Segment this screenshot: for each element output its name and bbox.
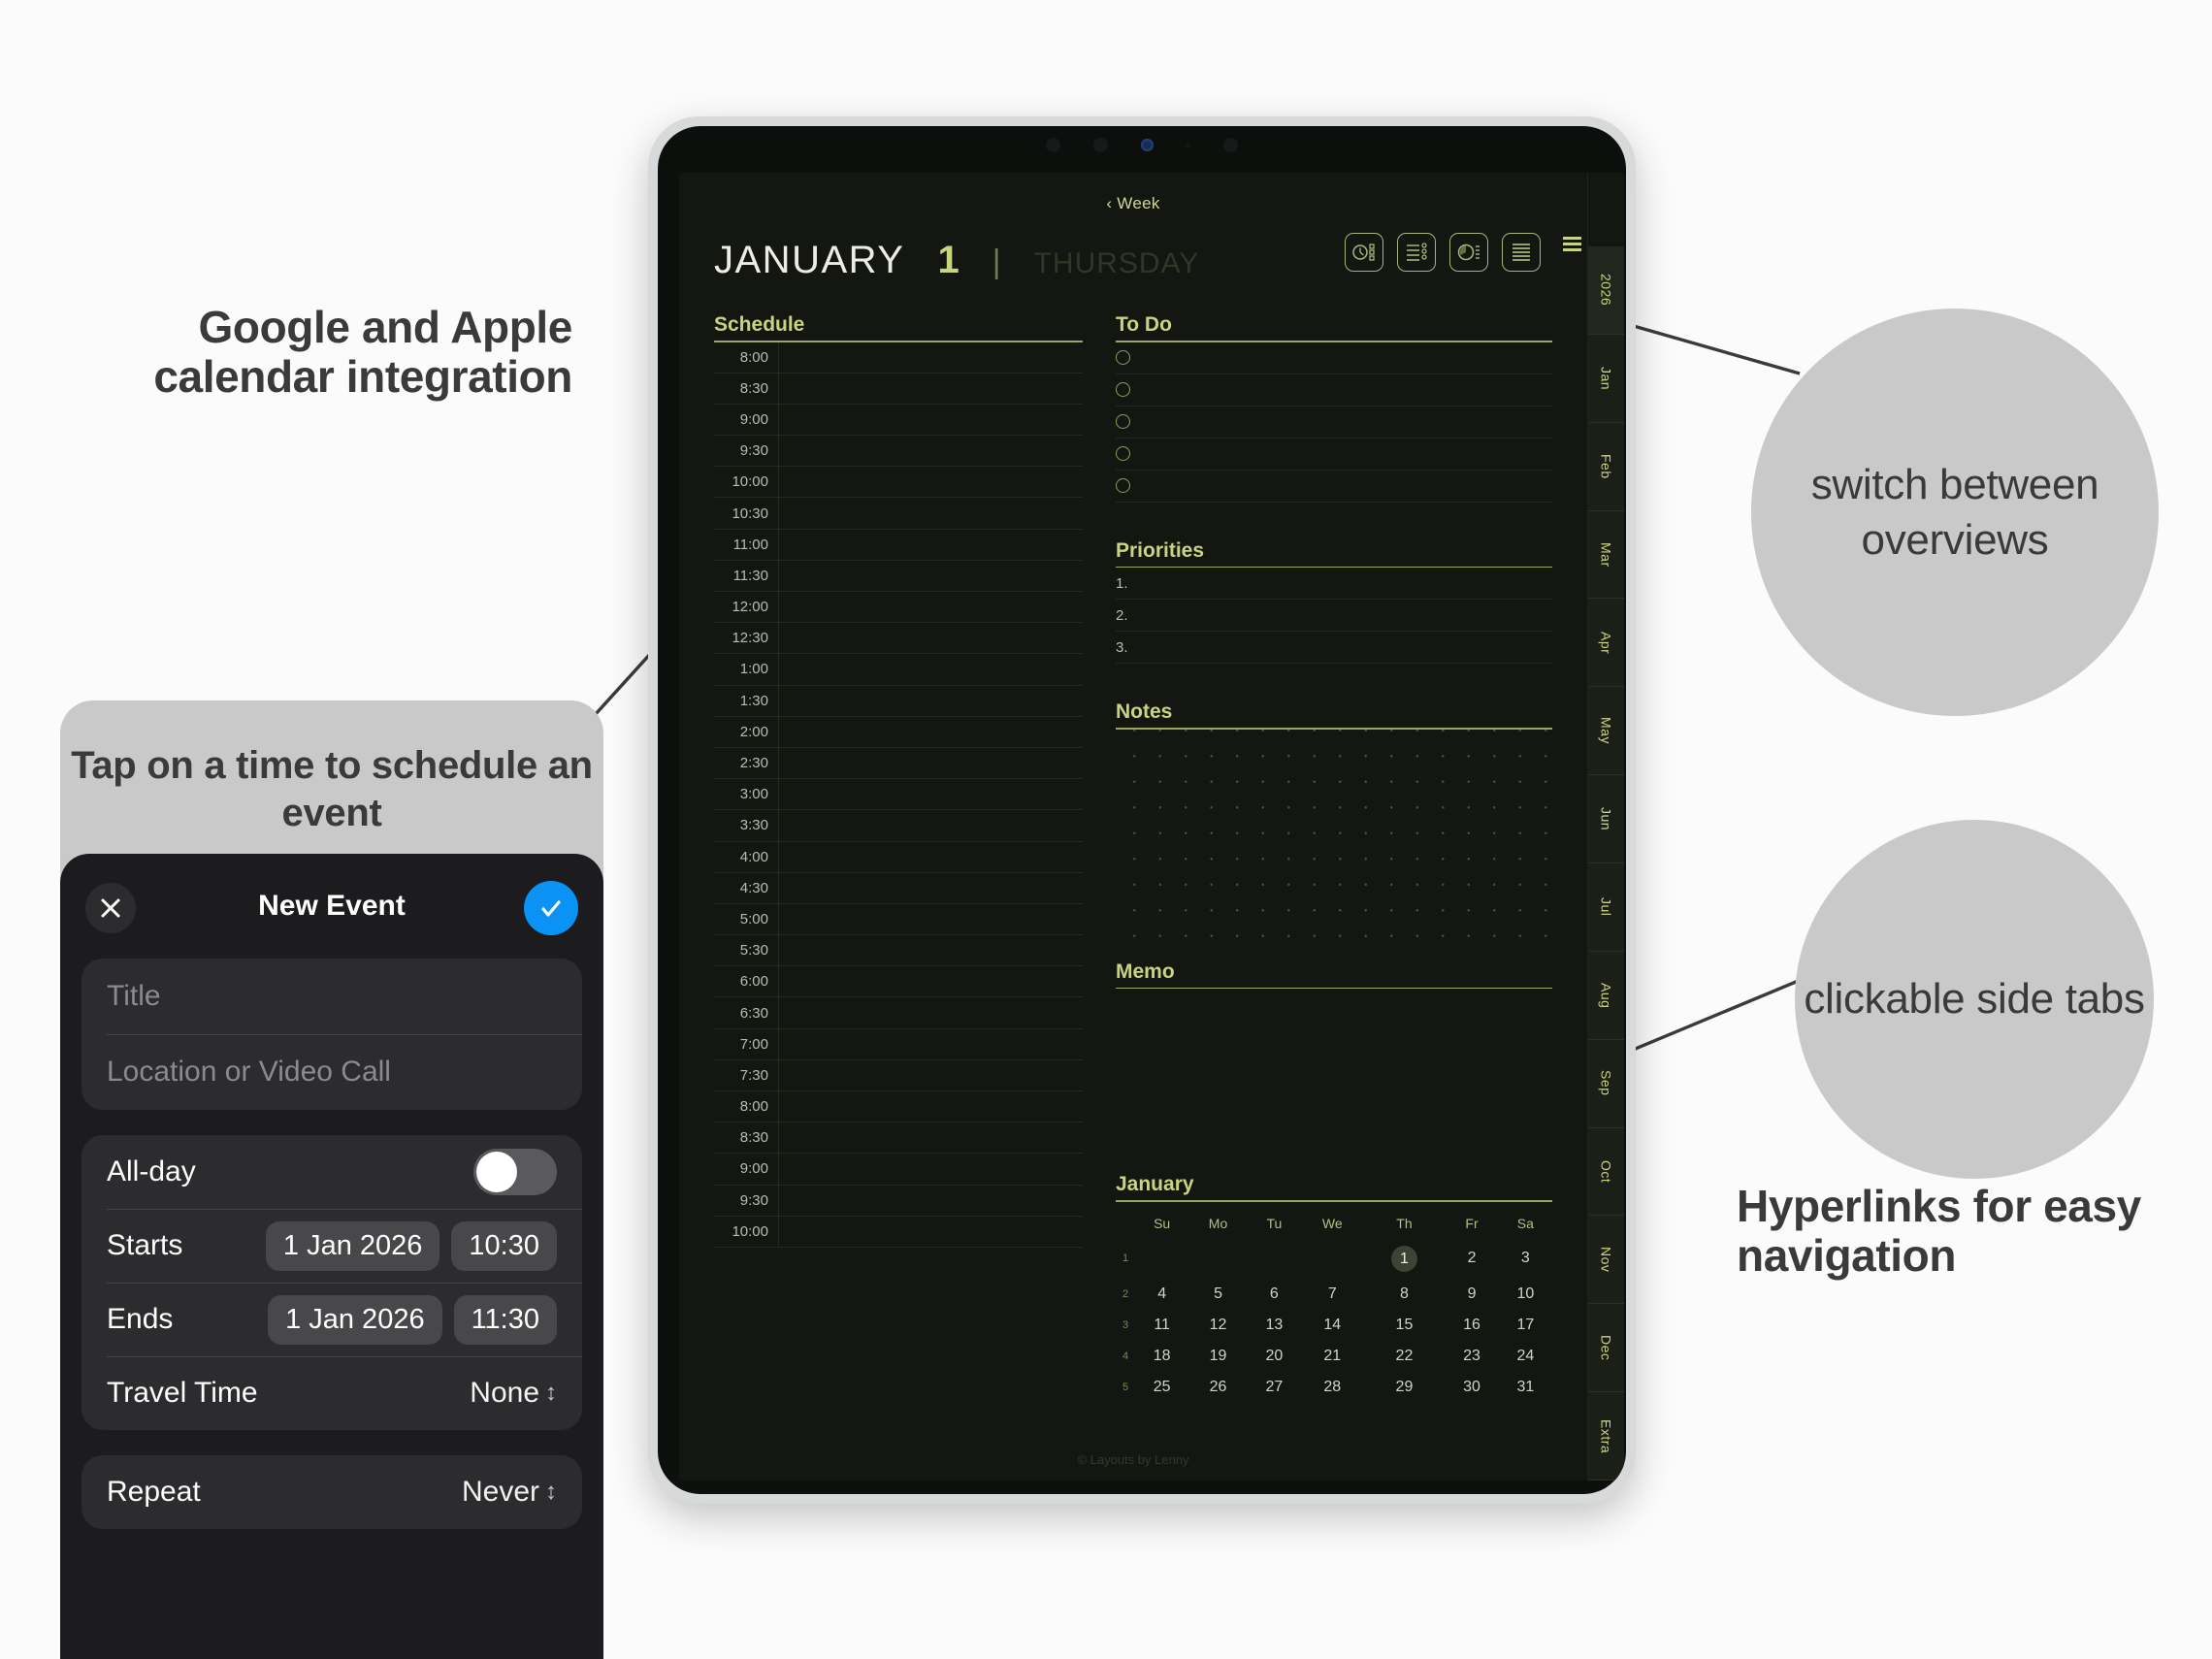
schedule-row[interactable]: 7:00 bbox=[714, 1029, 1083, 1060]
location-placeholder: Location or Video Call bbox=[107, 1056, 391, 1089]
mini-calendar-day[interactable]: 15 bbox=[1364, 1310, 1446, 1341]
schedule-row[interactable]: 8:30 bbox=[714, 1122, 1083, 1154]
memo-title: Memo bbox=[1116, 960, 1552, 988]
side-tab-label: Jul bbox=[1599, 897, 1614, 916]
schedule-entry-slot[interactable] bbox=[778, 966, 1083, 996]
schedule-time-label: 3:30 bbox=[714, 817, 778, 833]
todo-checkbox-icon[interactable] bbox=[1116, 350, 1130, 365]
mini-calendar-today: 1 bbox=[1391, 1246, 1417, 1272]
repeat-value: Never bbox=[462, 1476, 539, 1509]
mini-calendar-divider bbox=[1116, 1200, 1552, 1202]
todo-checkbox-icon[interactable] bbox=[1116, 446, 1130, 461]
event-time-card: All-day Starts 1 Jan 2026 10:30 Ends 1 J… bbox=[81, 1135, 582, 1430]
priority-number: 3. bbox=[1116, 639, 1137, 656]
new-event-header: New Event bbox=[60, 854, 603, 959]
tablet-device: ‹ Week JANUARY 1 | THURSDAY bbox=[648, 116, 1636, 1504]
priorities-title: Priorities bbox=[1116, 539, 1552, 567]
schedule-row[interactable]: 8:30 bbox=[714, 374, 1083, 405]
day-number: 1 bbox=[937, 239, 959, 282]
all-day-toggle[interactable] bbox=[473, 1149, 557, 1195]
schedule-title: Schedule bbox=[714, 313, 1083, 341]
schedule-entry-slot[interactable] bbox=[778, 467, 1083, 497]
title-input[interactable]: Title bbox=[81, 959, 582, 1034]
side-tab-label: Mar bbox=[1599, 542, 1614, 568]
schedule-entry-slot[interactable] bbox=[778, 1186, 1083, 1216]
schedule-time-label: 3:00 bbox=[714, 786, 778, 802]
schedule-time-label: 9:30 bbox=[714, 442, 778, 459]
week-number[interactable]: 4 bbox=[1116, 1341, 1135, 1372]
mini-calendar-title: January bbox=[1116, 1173, 1552, 1200]
list-view-icon[interactable] bbox=[1397, 233, 1436, 272]
event-text-fields-card: Title Location or Video Call bbox=[81, 959, 582, 1110]
face-id-sensor-icon bbox=[1141, 139, 1154, 151]
priority-row[interactable]: 3. bbox=[1116, 632, 1552, 664]
mini-calendar-week-row: 1123 bbox=[1116, 1239, 1552, 1279]
schedule-row[interactable]: 3:00 bbox=[714, 779, 1083, 810]
mini-calendar-day[interactable]: 17 bbox=[1499, 1310, 1552, 1341]
schedule-entry-slot[interactable] bbox=[778, 623, 1083, 653]
camera-sensor-icon bbox=[1046, 138, 1060, 152]
side-tab-dec[interactable]: Dec bbox=[1588, 1304, 1624, 1392]
mini-calendar-day[interactable]: 23 bbox=[1445, 1341, 1498, 1372]
schedule-time-label: 10:00 bbox=[714, 1223, 778, 1240]
todo-checkbox-icon[interactable] bbox=[1116, 478, 1130, 493]
schedule-row[interactable]: 1:30 bbox=[714, 686, 1083, 717]
tablet-sensor-array bbox=[1030, 132, 1253, 157]
side-tab-label: May bbox=[1599, 717, 1614, 744]
mini-calendar-day[interactable]: 1 bbox=[1364, 1239, 1446, 1279]
side-tabs: 2026JanFebMarAprMayJunJulAugSepOctNovDec… bbox=[1587, 173, 1624, 1480]
starts-row[interactable]: Starts 1 Jan 2026 10:30 bbox=[81, 1209, 582, 1283]
schedule-row[interactable]: 9:30 bbox=[714, 436, 1083, 467]
mini-calendar-weekday-header: Tu bbox=[1248, 1206, 1301, 1239]
lined-list-view-icon[interactable] bbox=[1502, 233, 1541, 272]
schedule-row[interactable]: 2:30 bbox=[714, 748, 1083, 779]
schedule-entry-slot[interactable] bbox=[778, 1029, 1083, 1059]
mini-calendar-day[interactable]: 7 bbox=[1301, 1279, 1363, 1310]
priority-number: 1. bbox=[1116, 575, 1137, 592]
schedule-row[interactable]: 10:00 bbox=[714, 467, 1083, 498]
week-number[interactable]: 3 bbox=[1116, 1310, 1135, 1341]
footer-credit: © Layouts by Lenny bbox=[679, 1452, 1587, 1467]
notes-title: Notes bbox=[1116, 700, 1552, 728]
schedule-time-label: 6:00 bbox=[714, 973, 778, 990]
mini-calendar-day[interactable]: 3 bbox=[1499, 1239, 1552, 1279]
mini-calendar-day[interactable]: 2 bbox=[1445, 1239, 1498, 1279]
checkmark-icon[interactable] bbox=[524, 881, 578, 935]
close-x-icon[interactable] bbox=[85, 883, 136, 933]
mini-calendar-weekday-header: Fr bbox=[1445, 1206, 1498, 1239]
schedule-time-label: 2:00 bbox=[714, 724, 778, 740]
repeat-label: Repeat bbox=[107, 1476, 462, 1509]
month-name[interactable]: JANUARY bbox=[714, 239, 904, 282]
side-tab-feb[interactable]: Feb bbox=[1588, 423, 1624, 511]
mini-calendar-day[interactable]: 13 bbox=[1248, 1310, 1301, 1341]
schedule-time-label: 4:30 bbox=[714, 880, 778, 896]
mini-calendar-day[interactable]: 8 bbox=[1364, 1279, 1446, 1310]
mini-calendar-week-row: 525262728293031 bbox=[1116, 1372, 1552, 1403]
schedule-row[interactable]: 12:30 bbox=[714, 623, 1083, 654]
side-tab-apr[interactable]: Apr bbox=[1588, 599, 1624, 687]
mini-calendar-day[interactable]: 21 bbox=[1301, 1341, 1363, 1372]
starts-time-pill[interactable]: 10:30 bbox=[451, 1221, 557, 1271]
ambient-light-sensor-icon bbox=[1186, 143, 1190, 147]
mini-calendar-corner bbox=[1116, 1206, 1135, 1239]
schedule-row[interactable]: 9:00 bbox=[714, 1154, 1083, 1185]
mini-calendar-day[interactable]: 27 bbox=[1248, 1372, 1301, 1403]
todo-checkbox-icon[interactable] bbox=[1116, 414, 1130, 429]
schedule-entry-slot[interactable] bbox=[778, 997, 1083, 1027]
schedule-entry-slot[interactable] bbox=[778, 654, 1083, 684]
title-placeholder: Title bbox=[107, 980, 161, 1013]
memo-area[interactable] bbox=[1116, 989, 1552, 1173]
todo-row[interactable] bbox=[1116, 471, 1552, 503]
schedule-entry-slot[interactable] bbox=[778, 1060, 1083, 1090]
side-tab-label: Sep bbox=[1599, 1070, 1614, 1095]
schedule-entry-slot[interactable] bbox=[778, 561, 1083, 591]
side-tab-jan[interactable]: Jan bbox=[1588, 335, 1624, 423]
schedule-time-label: 4:00 bbox=[714, 849, 778, 865]
mini-calendar-weekday-header: Su bbox=[1135, 1206, 1188, 1239]
schedule-time-label: 8:00 bbox=[714, 349, 778, 366]
chevron-updown-icon[interactable]: ↕ bbox=[545, 1380, 557, 1407]
schedule-time-label: 11:00 bbox=[714, 537, 778, 553]
schedule-row[interactable]: 10:00 bbox=[714, 1217, 1083, 1248]
mini-calendar-weekday-header: Sa bbox=[1499, 1206, 1552, 1239]
schedule-row[interactable]: 11:30 bbox=[714, 561, 1083, 592]
travel-time-row[interactable]: Travel Time None ↕ bbox=[81, 1356, 582, 1430]
tablet-bezel: ‹ Week JANUARY 1 | THURSDAY bbox=[658, 126, 1626, 1494]
schedule-time-label: 11:30 bbox=[714, 568, 778, 584]
mini-calendar-week-row: 245678910 bbox=[1116, 1279, 1552, 1310]
mini-calendar-weekday-header: We bbox=[1301, 1206, 1363, 1239]
schedule-column: Schedule 8:008:309:009:3010:0010:3011:00… bbox=[714, 313, 1083, 1403]
schedule-time-label: 5:00 bbox=[714, 911, 778, 927]
schedule-entry-slot[interactable] bbox=[778, 436, 1083, 466]
mini-calendar-day[interactable]: 31 bbox=[1499, 1372, 1552, 1403]
schedule-time-label: 8:00 bbox=[714, 1098, 778, 1115]
sidebar-column: To Do Priorities 1.2.3. Notes Memo bbox=[1116, 313, 1552, 1403]
mini-calendar-day[interactable]: 22 bbox=[1364, 1341, 1446, 1372]
mini-calendar-day[interactable]: 28 bbox=[1301, 1372, 1363, 1403]
planner-columns: Schedule 8:008:309:009:3010:0010:3011:00… bbox=[704, 313, 1562, 1403]
schedule-entry-slot[interactable] bbox=[778, 748, 1083, 778]
schedule-row[interactable]: 12:00 bbox=[714, 592, 1083, 623]
side-tab-label: Apr bbox=[1599, 632, 1614, 654]
side-tab-label: Nov bbox=[1599, 1247, 1614, 1272]
schedule-row[interactable]: 5:30 bbox=[714, 935, 1083, 966]
schedule-entry-slot[interactable] bbox=[778, 842, 1083, 872]
view-switcher-toolbar bbox=[1345, 233, 1541, 272]
schedule-time-label: 8:30 bbox=[714, 1129, 778, 1146]
mini-calendar-day[interactable]: 12 bbox=[1188, 1310, 1247, 1341]
mini-calendar-day[interactable]: 26 bbox=[1188, 1372, 1247, 1403]
side-tab-label: Oct bbox=[1599, 1160, 1614, 1183]
side-tab-mar[interactable]: Mar bbox=[1588, 511, 1624, 600]
schedule-row[interactable]: 11:00 bbox=[714, 530, 1083, 561]
schedule-time-label: 2:30 bbox=[714, 755, 778, 771]
schedule-row[interactable]: 2:00 bbox=[714, 717, 1083, 748]
mini-calendar-day[interactable]: 14 bbox=[1301, 1310, 1363, 1341]
all-day-label: All-day bbox=[107, 1155, 473, 1188]
side-tab-label: Jan bbox=[1599, 367, 1614, 390]
schedule-row[interactable]: 4:30 bbox=[714, 873, 1083, 904]
side-tab-label: 2026 bbox=[1599, 274, 1614, 306]
schedule-entry-slot[interactable] bbox=[778, 686, 1083, 716]
schedule-entry-slot[interactable] bbox=[778, 717, 1083, 747]
side-tab-jul[interactable]: Jul bbox=[1588, 863, 1624, 952]
mini-calendar-weekday-header: Mo bbox=[1188, 1206, 1247, 1239]
todo-row[interactable] bbox=[1116, 439, 1552, 471]
schedule-time-label: 5:30 bbox=[714, 942, 778, 959]
planner-screen: ‹ Week JANUARY 1 | THURSDAY bbox=[679, 173, 1624, 1480]
schedule-time-label: 8:30 bbox=[714, 380, 778, 397]
mini-calendar-header-row: SuMoTuWeThFrSa bbox=[1116, 1206, 1552, 1239]
side-tab-may[interactable]: May bbox=[1588, 687, 1624, 775]
priority-number: 2. bbox=[1116, 607, 1137, 624]
mini-calendar-day[interactable]: 4 bbox=[1135, 1279, 1188, 1310]
all-day-row[interactable]: All-day bbox=[81, 1135, 582, 1209]
priority-row[interactable]: 1. bbox=[1116, 568, 1552, 600]
weekday-name: THURSDAY bbox=[1034, 247, 1200, 280]
schedule-time-label: 12:00 bbox=[714, 599, 778, 615]
mini-calendar-empty-day bbox=[1135, 1239, 1188, 1279]
mini-calendar-day[interactable]: 19 bbox=[1188, 1341, 1247, 1372]
week-number[interactable]: 2 bbox=[1116, 1279, 1135, 1310]
mini-calendar-day[interactable]: 20 bbox=[1248, 1341, 1301, 1372]
side-tab-extra[interactable]: Extra bbox=[1588, 1392, 1624, 1480]
schedule-entry-slot[interactable] bbox=[778, 530, 1083, 560]
side-tab-label: Feb bbox=[1599, 454, 1614, 479]
schedule-time-label: 9:00 bbox=[714, 411, 778, 428]
annotation-hyperlinks: Hyperlinks for easy navigation bbox=[1737, 1182, 2144, 1280]
mini-calendar-empty-day bbox=[1188, 1239, 1247, 1279]
schedule-row[interactable]: 10:30 bbox=[714, 498, 1083, 529]
schedule-row[interactable]: 7:30 bbox=[714, 1060, 1083, 1091]
side-tab-aug[interactable]: Aug bbox=[1588, 952, 1624, 1040]
week-back-link[interactable]: ‹ Week bbox=[1106, 194, 1159, 213]
week-number[interactable]: 1 bbox=[1116, 1239, 1135, 1279]
schedule-time-label: 10:00 bbox=[714, 473, 778, 490]
chevron-updown-icon[interactable]: ↕ bbox=[545, 1479, 557, 1506]
side-tab-label: Dec bbox=[1599, 1335, 1614, 1360]
schedule-row[interactable]: 8:00 bbox=[714, 342, 1083, 374]
mini-calendar-body: 1123245678910311121314151617418192021222… bbox=[1116, 1239, 1552, 1403]
schedule-entry-slot[interactable] bbox=[778, 498, 1083, 528]
schedule-time-label: 1:00 bbox=[714, 661, 778, 677]
mini-calendar-day[interactable]: 10 bbox=[1499, 1279, 1552, 1310]
annotation-clickable-side-tabs: clickable side tabs bbox=[1795, 820, 2154, 1179]
schedule-row[interactable]: 8:00 bbox=[714, 1091, 1083, 1122]
schedule-row[interactable]: 1:00 bbox=[714, 654, 1083, 685]
dot-projector-icon bbox=[1223, 138, 1238, 152]
todo-title: To Do bbox=[1116, 313, 1552, 341]
side-tab-label: Jun bbox=[1599, 807, 1614, 830]
schedule-time-label: 6:30 bbox=[714, 1005, 778, 1022]
week-number[interactable]: 5 bbox=[1116, 1372, 1135, 1403]
schedule-row[interactable]: 5:00 bbox=[714, 904, 1083, 935]
schedule-row[interactable]: 6:30 bbox=[714, 997, 1083, 1028]
side-tab-2026[interactable]: 2026 bbox=[1588, 246, 1624, 335]
todo-row[interactable] bbox=[1116, 407, 1552, 439]
planner-page: ‹ Week JANUARY 1 | THURSDAY bbox=[679, 173, 1587, 1480]
repeat-row[interactable]: Repeat Never ↕ bbox=[81, 1455, 582, 1529]
location-input[interactable]: Location or Video Call bbox=[81, 1034, 582, 1110]
ends-row[interactable]: Ends 1 Jan 2026 11:30 bbox=[81, 1283, 582, 1356]
todo-row[interactable] bbox=[1116, 374, 1552, 407]
event-repeat-card: Repeat Never ↕ bbox=[81, 1455, 582, 1529]
schedule-entry-slot[interactable] bbox=[778, 1217, 1083, 1247]
mini-calendar-empty-day bbox=[1301, 1239, 1363, 1279]
mini-calendar-day[interactable]: 29 bbox=[1364, 1372, 1446, 1403]
travel-time-label: Travel Time bbox=[107, 1377, 470, 1410]
schedule-entry-slot[interactable] bbox=[778, 405, 1083, 435]
priority-row[interactable]: 2. bbox=[1116, 600, 1552, 632]
notes-dot-grid[interactable] bbox=[1116, 730, 1552, 960]
mini-calendar-day[interactable]: 9 bbox=[1445, 1279, 1498, 1310]
schedule-row[interactable]: 9:00 bbox=[714, 405, 1083, 436]
schedule-entry-slot[interactable] bbox=[778, 810, 1083, 840]
side-tab-label: Extra bbox=[1599, 1419, 1614, 1453]
side-tab-jun[interactable]: Jun bbox=[1588, 775, 1624, 863]
schedule-entry-slot[interactable] bbox=[778, 1154, 1083, 1184]
schedule-row[interactable]: 9:30 bbox=[714, 1186, 1083, 1217]
mini-calendar-week-row: 311121314151617 bbox=[1116, 1310, 1552, 1341]
mini-calendar-day[interactable]: 30 bbox=[1445, 1372, 1498, 1403]
mini-calendar-day[interactable]: 11 bbox=[1135, 1310, 1188, 1341]
mini-calendar-day[interactable]: 25 bbox=[1135, 1372, 1188, 1403]
side-tab-oct[interactable]: Oct bbox=[1588, 1128, 1624, 1217]
schedule-entry-slot[interactable] bbox=[778, 374, 1083, 404]
schedule-entry-slot[interactable] bbox=[778, 873, 1083, 903]
schedule-entry-slot[interactable] bbox=[778, 342, 1083, 373]
todo-list bbox=[1116, 342, 1552, 503]
schedule-time-label: 7:00 bbox=[714, 1036, 778, 1053]
annotation-google-apple: Google and Apple calendar integration bbox=[116, 303, 572, 401]
schedule-entry-slot[interactable] bbox=[778, 935, 1083, 965]
mini-calendar-weekday-header: Th bbox=[1364, 1206, 1446, 1239]
schedule-row[interactable]: 3:30 bbox=[714, 810, 1083, 841]
new-event-panel: New Event Title Location or Video Call A… bbox=[60, 854, 603, 1659]
mini-calendar-day[interactable]: 6 bbox=[1248, 1279, 1301, 1310]
schedule-time-label: 7:30 bbox=[714, 1067, 778, 1084]
side-tab-label: Aug bbox=[1599, 983, 1614, 1008]
new-event-title: New Event bbox=[258, 890, 406, 923]
mini-calendar-day[interactable]: 16 bbox=[1445, 1310, 1498, 1341]
mini-calendar-week-row: 418192021222324 bbox=[1116, 1341, 1552, 1372]
clock-grid-view-icon[interactable] bbox=[1345, 233, 1383, 272]
mini-calendar-day[interactable]: 18 bbox=[1135, 1341, 1188, 1372]
schedule-time-label: 10:30 bbox=[714, 505, 778, 522]
ends-date-pill[interactable]: 1 Jan 2026 bbox=[268, 1295, 442, 1345]
camera-lens-icon bbox=[1093, 138, 1108, 152]
schedule-entry-slot[interactable] bbox=[778, 779, 1083, 809]
schedule-row[interactable]: 4:00 bbox=[714, 842, 1083, 873]
travel-time-value: None bbox=[470, 1377, 539, 1410]
schedule-time-label: 9:30 bbox=[714, 1192, 778, 1209]
todo-row[interactable] bbox=[1116, 342, 1552, 374]
todo-checkbox-icon[interactable] bbox=[1116, 382, 1130, 397]
mini-calendar-day[interactable]: 5 bbox=[1188, 1279, 1247, 1310]
ends-time-pill[interactable]: 11:30 bbox=[454, 1295, 557, 1345]
mini-calendar: SuMoTuWeThFrSa 1123245678910311121314151… bbox=[1116, 1206, 1552, 1403]
schedule-time-label: 1:30 bbox=[714, 693, 778, 709]
starts-label: Starts bbox=[107, 1229, 254, 1262]
mini-calendar-day[interactable]: 24 bbox=[1499, 1341, 1552, 1372]
schedule-row[interactable]: 6:00 bbox=[714, 966, 1083, 997]
mini-calendar-empty-day bbox=[1248, 1239, 1301, 1279]
schedule-entry-slot[interactable] bbox=[778, 1091, 1083, 1122]
schedule-entry-slot[interactable] bbox=[778, 592, 1083, 622]
priorities-list: 1.2.3. bbox=[1116, 568, 1552, 664]
ends-label: Ends bbox=[107, 1303, 256, 1336]
schedule-time-label: 9:00 bbox=[714, 1160, 778, 1177]
schedule-entry-slot[interactable] bbox=[778, 1122, 1083, 1153]
side-tab-nov[interactable]: Nov bbox=[1588, 1216, 1624, 1304]
starts-date-pill[interactable]: 1 Jan 2026 bbox=[266, 1221, 440, 1271]
clock-list-view-icon[interactable] bbox=[1449, 233, 1488, 272]
schedule-list: 8:008:309:009:3010:0010:3011:0011:3012:0… bbox=[714, 342, 1083, 1248]
annotation-switch-overviews: switch between overviews bbox=[1751, 309, 2159, 716]
header-separator: | bbox=[992, 244, 1001, 281]
schedule-entry-slot[interactable] bbox=[778, 904, 1083, 934]
hamburger-menu-icon[interactable] bbox=[1563, 237, 1581, 251]
schedule-time-label: 12:30 bbox=[714, 630, 778, 646]
side-tab-sep[interactable]: Sep bbox=[1588, 1040, 1624, 1128]
